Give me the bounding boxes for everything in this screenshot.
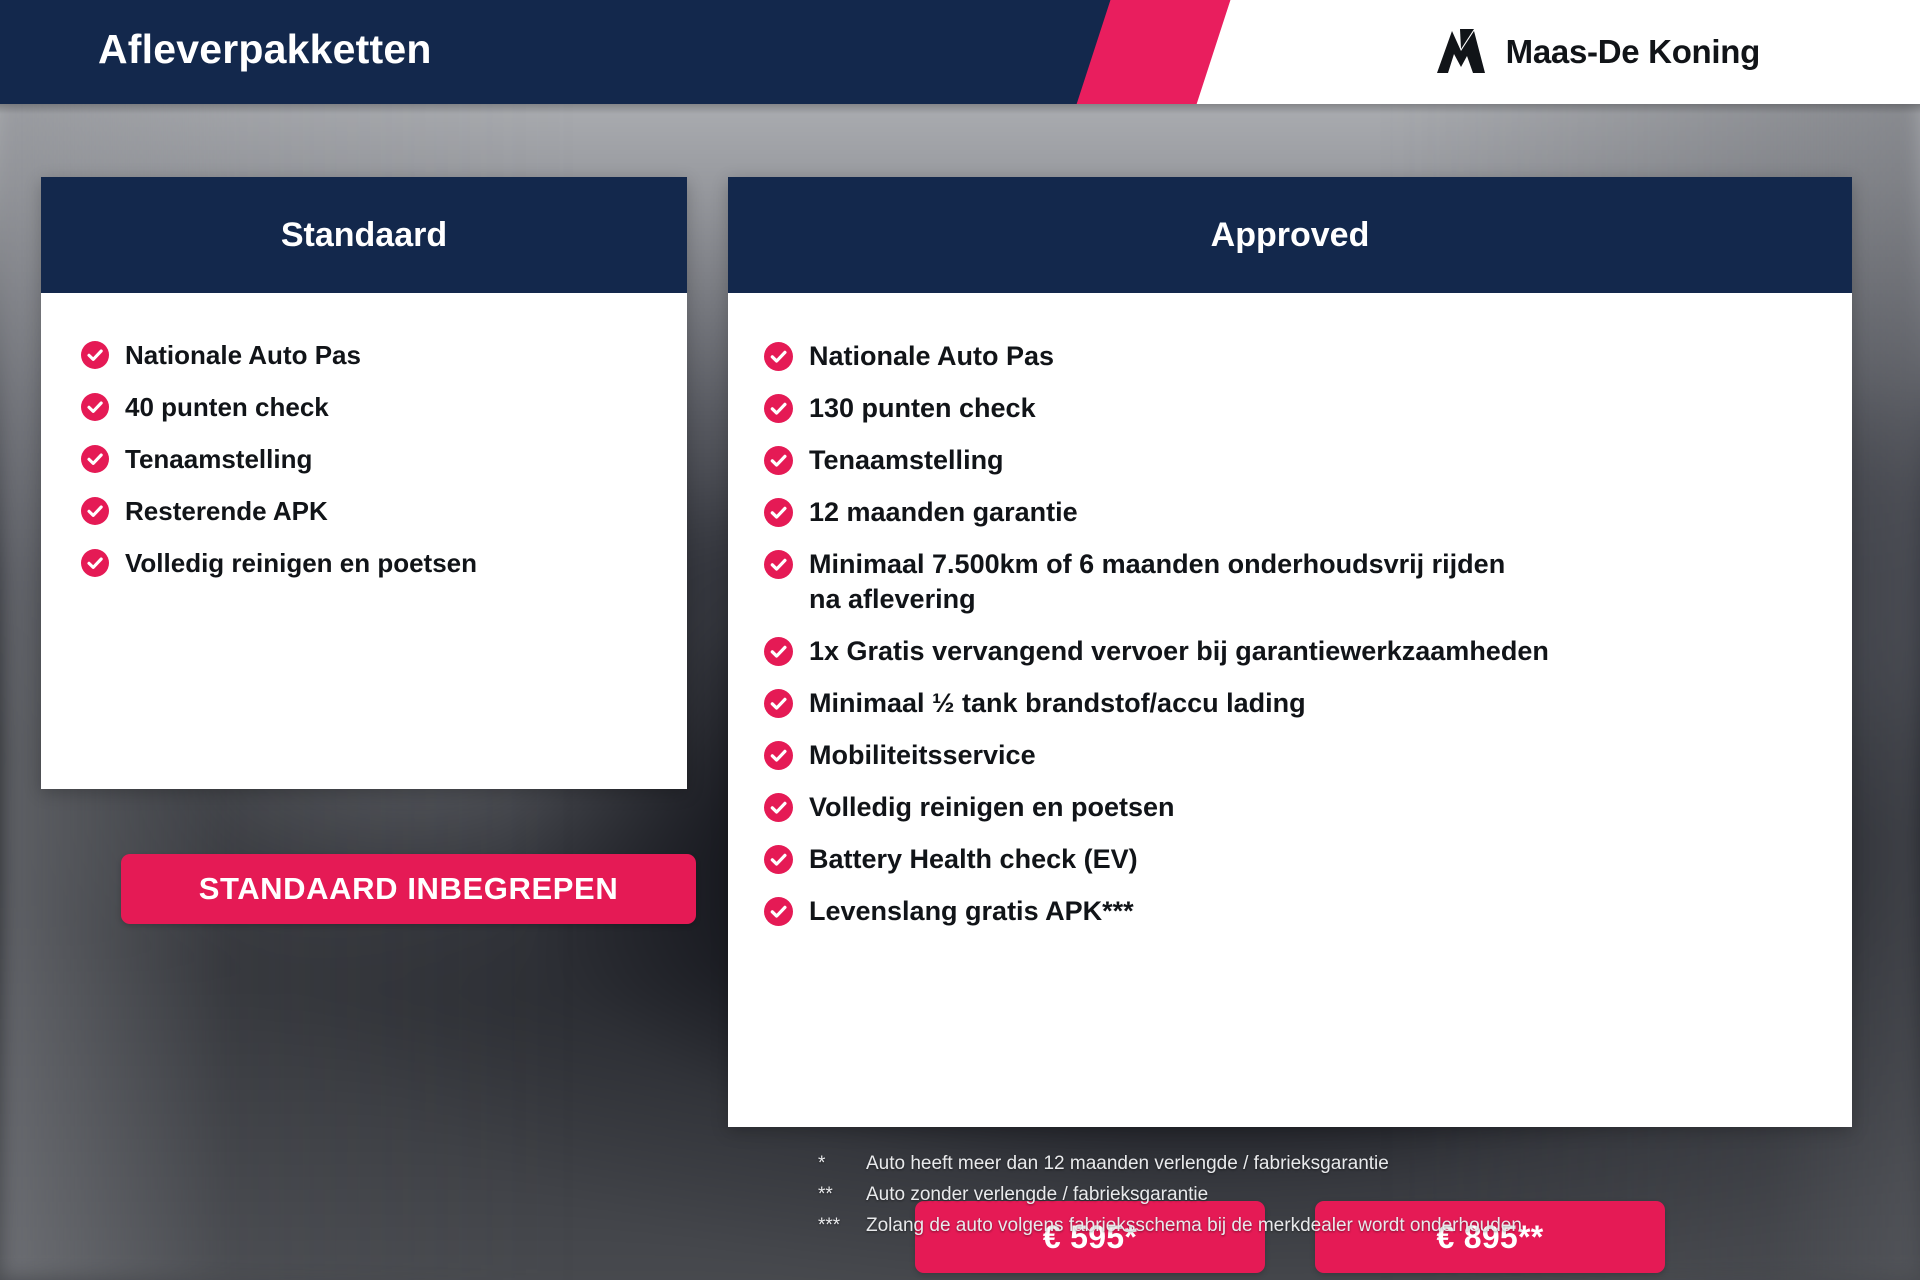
feature-label: Tenaamstelling xyxy=(125,443,312,475)
feature-list-standaard: Nationale Auto Pas 40 punten check Tenaa… xyxy=(41,293,687,579)
card-title-standaard: Standaard xyxy=(41,177,687,293)
feature-label: Volledig reinigen en poetsen xyxy=(809,790,1175,825)
list-item: Minimaal 7.500km of 6 maanden onderhouds… xyxy=(764,547,1524,617)
feature-label: Levenslang gratis APK*** xyxy=(809,894,1134,929)
brand-name: Maas-De Koning xyxy=(1506,33,1760,71)
list-item: 130 punten check xyxy=(764,391,1852,426)
check-circle-icon xyxy=(81,341,109,369)
footnote-text: Auto zonder verlengde / fabrieksgarantie xyxy=(866,1179,1208,1210)
standaard-inbegrepen-button[interactable]: STANDAARD INBEGREPEN xyxy=(121,854,696,924)
footnote-2: ** Auto zonder verlengde / fabrieksgaran… xyxy=(818,1179,1522,1210)
check-circle-icon xyxy=(764,689,793,718)
card-title-approved: Approved xyxy=(728,177,1852,293)
footnote-3: *** Zolang de auto volgens fabrieksschem… xyxy=(818,1210,1522,1241)
feature-label: Volledig reinigen en poetsen xyxy=(125,547,477,579)
footnote-marker: * xyxy=(818,1148,866,1179)
feature-label: 40 punten check xyxy=(125,391,329,423)
check-circle-icon xyxy=(764,498,793,527)
feature-label: Tenaamstelling xyxy=(809,443,1004,478)
page-header: Afleverpakketten Maas-De Koning xyxy=(0,0,1920,104)
check-circle-icon xyxy=(764,741,793,770)
feature-label: Nationale Auto Pas xyxy=(809,339,1054,374)
card-body-standaard: Nationale Auto Pas 40 punten check Tenaa… xyxy=(41,293,687,579)
check-circle-icon xyxy=(764,342,793,371)
check-circle-icon xyxy=(81,393,109,421)
list-item: 40 punten check xyxy=(81,391,687,423)
feature-label: Minimaal 7.500km of 6 maanden onderhouds… xyxy=(809,547,1524,617)
feature-label: Battery Health check (EV) xyxy=(809,842,1138,877)
package-card-standaard: Standaard Nationale Auto Pas 40 punten c… xyxy=(41,177,687,789)
footnote-marker: *** xyxy=(818,1210,866,1241)
check-circle-icon xyxy=(764,845,793,874)
footnote-text: Auto heeft meer dan 12 maanden verlengde… xyxy=(866,1148,1389,1179)
brand-lockup: Maas-De Koning xyxy=(1434,29,1760,75)
footnote-1: * Auto heeft meer dan 12 maanden verleng… xyxy=(818,1148,1522,1179)
check-circle-icon xyxy=(764,394,793,423)
header-drop-shadow xyxy=(0,104,1920,114)
poster-canvas: Afleverpakketten Maas-De Koning Standaar… xyxy=(0,0,1920,1280)
list-item: Mobiliteitsservice xyxy=(764,738,1852,773)
check-circle-icon xyxy=(81,445,109,473)
package-card-approved: Approved Nationale Auto Pas 130 punten c… xyxy=(728,177,1852,1127)
list-item: Nationale Auto Pas xyxy=(81,339,687,371)
page-title: Afleverpakketten xyxy=(98,26,432,73)
list-item: Tenaamstelling xyxy=(81,443,687,475)
check-circle-icon xyxy=(764,793,793,822)
check-circle-icon xyxy=(81,497,109,525)
list-item: Resterende APK xyxy=(81,495,687,527)
list-item: Levenslang gratis APK*** xyxy=(764,894,1852,929)
feature-label: 1x Gratis vervangend vervoer bij garanti… xyxy=(809,634,1549,669)
footnote-marker: ** xyxy=(818,1179,866,1210)
check-circle-icon xyxy=(81,549,109,577)
feature-label: Minimaal ½ tank brandstof/accu lading xyxy=(809,686,1306,721)
feature-list-approved: Nationale Auto Pas 130 punten check Tena… xyxy=(728,293,1852,929)
feature-label: Nationale Auto Pas xyxy=(125,339,361,371)
check-circle-icon xyxy=(764,446,793,475)
list-item: Tenaamstelling xyxy=(764,443,1852,478)
maas-de-koning-m-logo-icon xyxy=(1434,29,1488,75)
list-item: 1x Gratis vervangend vervoer bij garanti… xyxy=(764,634,1852,669)
feature-label: Mobiliteitsservice xyxy=(809,738,1036,773)
list-item: Battery Health check (EV) xyxy=(764,842,1852,877)
feature-label: 130 punten check xyxy=(809,391,1036,426)
check-circle-icon xyxy=(764,637,793,666)
footnotes-block: * Auto heeft meer dan 12 maanden verleng… xyxy=(818,1148,1522,1241)
check-circle-icon xyxy=(764,897,793,926)
list-item: 12 maanden garantie xyxy=(764,495,1852,530)
footnote-text: Zolang de auto volgens fabrieksschema bi… xyxy=(866,1210,1522,1241)
list-item: Volledig reinigen en poetsen xyxy=(764,790,1852,825)
feature-label: Resterende APK xyxy=(125,495,328,527)
list-item: Volledig reinigen en poetsen xyxy=(81,547,687,579)
list-item: Minimaal ½ tank brandstof/accu lading xyxy=(764,686,1852,721)
feature-label: 12 maanden garantie xyxy=(809,495,1078,530)
list-item: Nationale Auto Pas xyxy=(764,339,1852,374)
check-circle-icon xyxy=(764,550,793,579)
card-body-approved: Nationale Auto Pas 130 punten check Tena… xyxy=(728,293,1852,929)
